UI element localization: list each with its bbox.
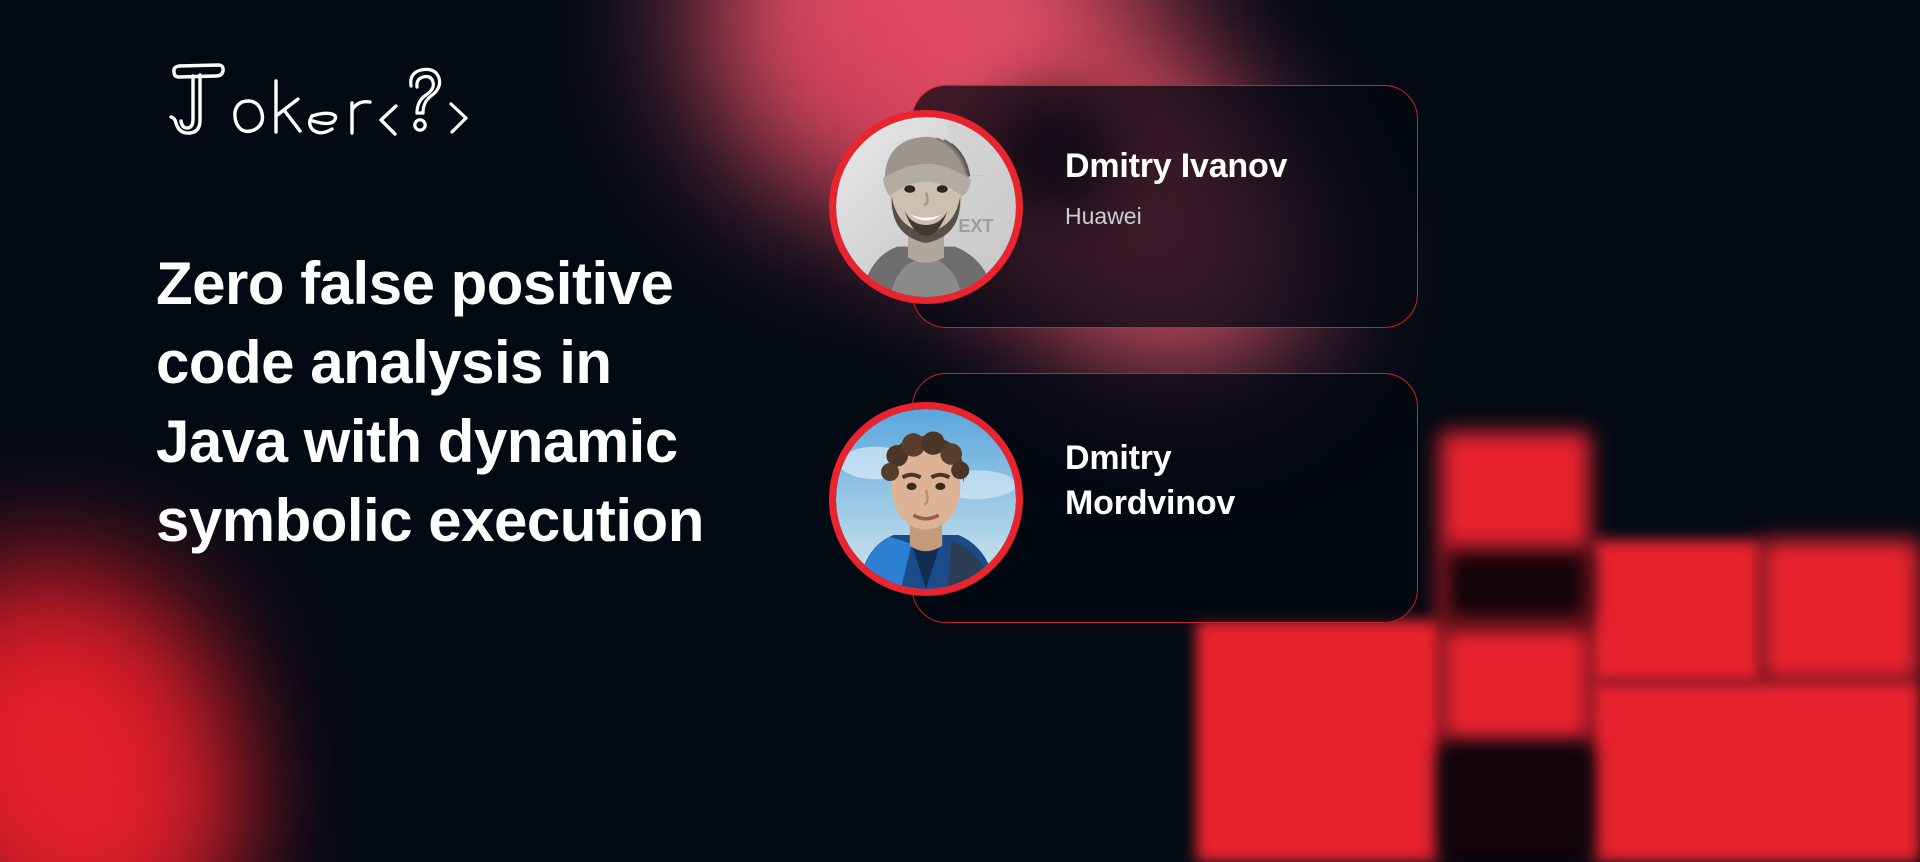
slide-canvas: Zero false positive code analysis in Jav…	[0, 0, 1920, 862]
svg-text:·····: ·····	[969, 170, 984, 180]
speaker-name: DmitryMordvinov	[1065, 436, 1395, 526]
speaker-cards: ····· EXT	[912, 0, 1912, 862]
speaker-name: Dmitry Ivanov	[1065, 144, 1395, 189]
talk-title-line: symbolic execution	[156, 487, 704, 554]
joker-logo[interactable]	[156, 58, 426, 148]
talk-title-line: Java with dynamic	[156, 408, 678, 475]
left-column: Zero false positive code analysis in Jav…	[156, 0, 776, 862]
svg-text:EXT: EXT	[958, 216, 993, 236]
speaker-company: Huawei	[1065, 202, 1395, 230]
speaker-card[interactable]: ····· EXT	[912, 85, 1418, 328]
speaker-info: Dmitry Ivanov Huawei	[1065, 144, 1395, 230]
talk-title-line: code analysis in	[156, 329, 612, 396]
talk-title: Zero false positive code analysis in Jav…	[156, 244, 736, 560]
avatar: ····· EXT	[829, 110, 1023, 304]
speaker-card[interactable]: DmitryMordvinov	[912, 373, 1418, 623]
avatar	[829, 402, 1023, 596]
speaker-info: DmitryMordvinov	[1065, 436, 1395, 526]
talk-title-line: Zero false positive	[156, 250, 673, 317]
